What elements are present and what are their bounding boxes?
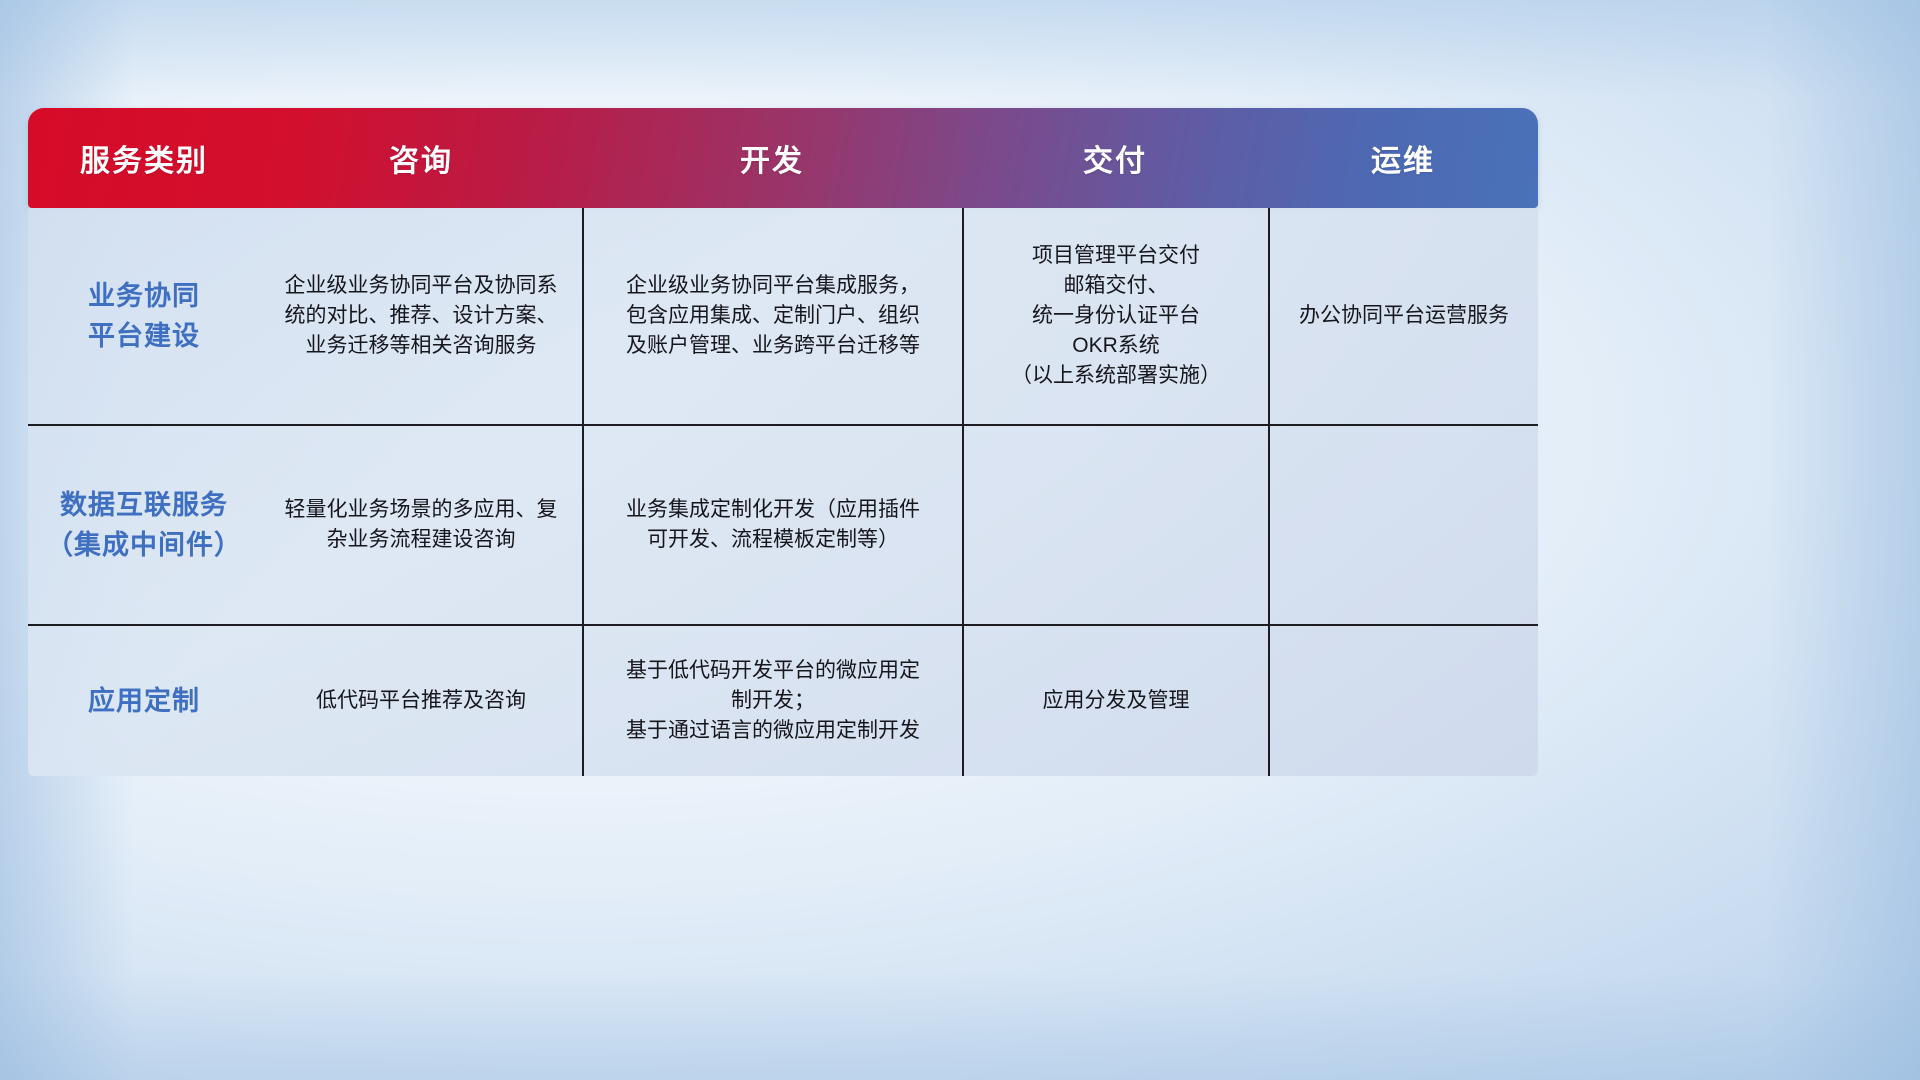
cell-operations	[1268, 626, 1538, 776]
table-row: 数据互联服务 （集成中间件） 轻量化业务场景的多应用、复 杂业务流程建设咨询 业…	[28, 426, 1538, 626]
header-cell-service-category: 服务类别	[28, 108, 260, 208]
row-category-label: 应用定制	[28, 626, 260, 776]
cell-delivery	[962, 426, 1268, 624]
row-category-label: 数据互联服务 （集成中间件）	[28, 426, 260, 624]
header-cell-operations: 运维	[1268, 108, 1538, 208]
cell-operations: 办公协同平台运营服务	[1268, 208, 1538, 424]
service-matrix-table: 服务类别 咨询 开发 交付 运维 业务协同 平台建设 企业级业务协同平台及协同系…	[28, 108, 1538, 776]
cell-delivery: 项目管理平台交付 邮箱交付、 统一身份认证平台 OKR系统 （以上系统部署实施）	[962, 208, 1268, 424]
table-row: 应用定制 低代码平台推荐及咨询 基于低代码开发平台的微应用定 制开发； 基于通过…	[28, 626, 1538, 776]
header-cell-delivery: 交付	[962, 108, 1268, 208]
table-body: 业务协同 平台建设 企业级业务协同平台及协同系 统的对比、推荐、设计方案、 业务…	[28, 208, 1538, 776]
cell-development: 业务集成定制化开发（应用插件 可开发、流程模板定制等）	[582, 426, 962, 624]
header-cell-development: 开发	[582, 108, 962, 208]
cell-consulting: 企业级业务协同平台及协同系 统的对比、推荐、设计方案、 业务迁移等相关咨询服务	[260, 208, 582, 424]
slide-canvas: 服务类别 咨询 开发 交付 运维 业务协同 平台建设 企业级业务协同平台及协同系…	[0, 0, 1920, 1080]
row-category-label: 业务协同 平台建设	[28, 208, 260, 424]
cell-delivery: 应用分发及管理	[962, 626, 1268, 776]
cell-consulting: 轻量化业务场景的多应用、复 杂业务流程建设咨询	[260, 426, 582, 624]
cell-development: 企业级业务协同平台集成服务， 包含应用集成、定制门户、组织 及账户管理、业务跨平…	[582, 208, 962, 424]
header-cell-consulting: 咨询	[260, 108, 582, 208]
cell-consulting: 低代码平台推荐及咨询	[260, 626, 582, 776]
cell-operations	[1268, 426, 1538, 624]
cell-development: 基于低代码开发平台的微应用定 制开发； 基于通过语言的微应用定制开发	[582, 626, 962, 776]
table-header-row: 服务类别 咨询 开发 交付 运维	[28, 108, 1538, 208]
table-row: 业务协同 平台建设 企业级业务协同平台及协同系 统的对比、推荐、设计方案、 业务…	[28, 208, 1538, 426]
